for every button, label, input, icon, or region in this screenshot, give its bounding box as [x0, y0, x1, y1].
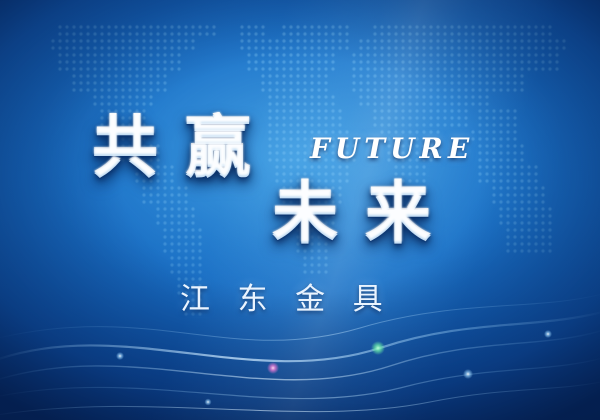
promotional-banner: 共 赢 FUTURE 未 来 江 东 金 具: [0, 0, 600, 420]
vignette-overlay: [0, 0, 600, 420]
